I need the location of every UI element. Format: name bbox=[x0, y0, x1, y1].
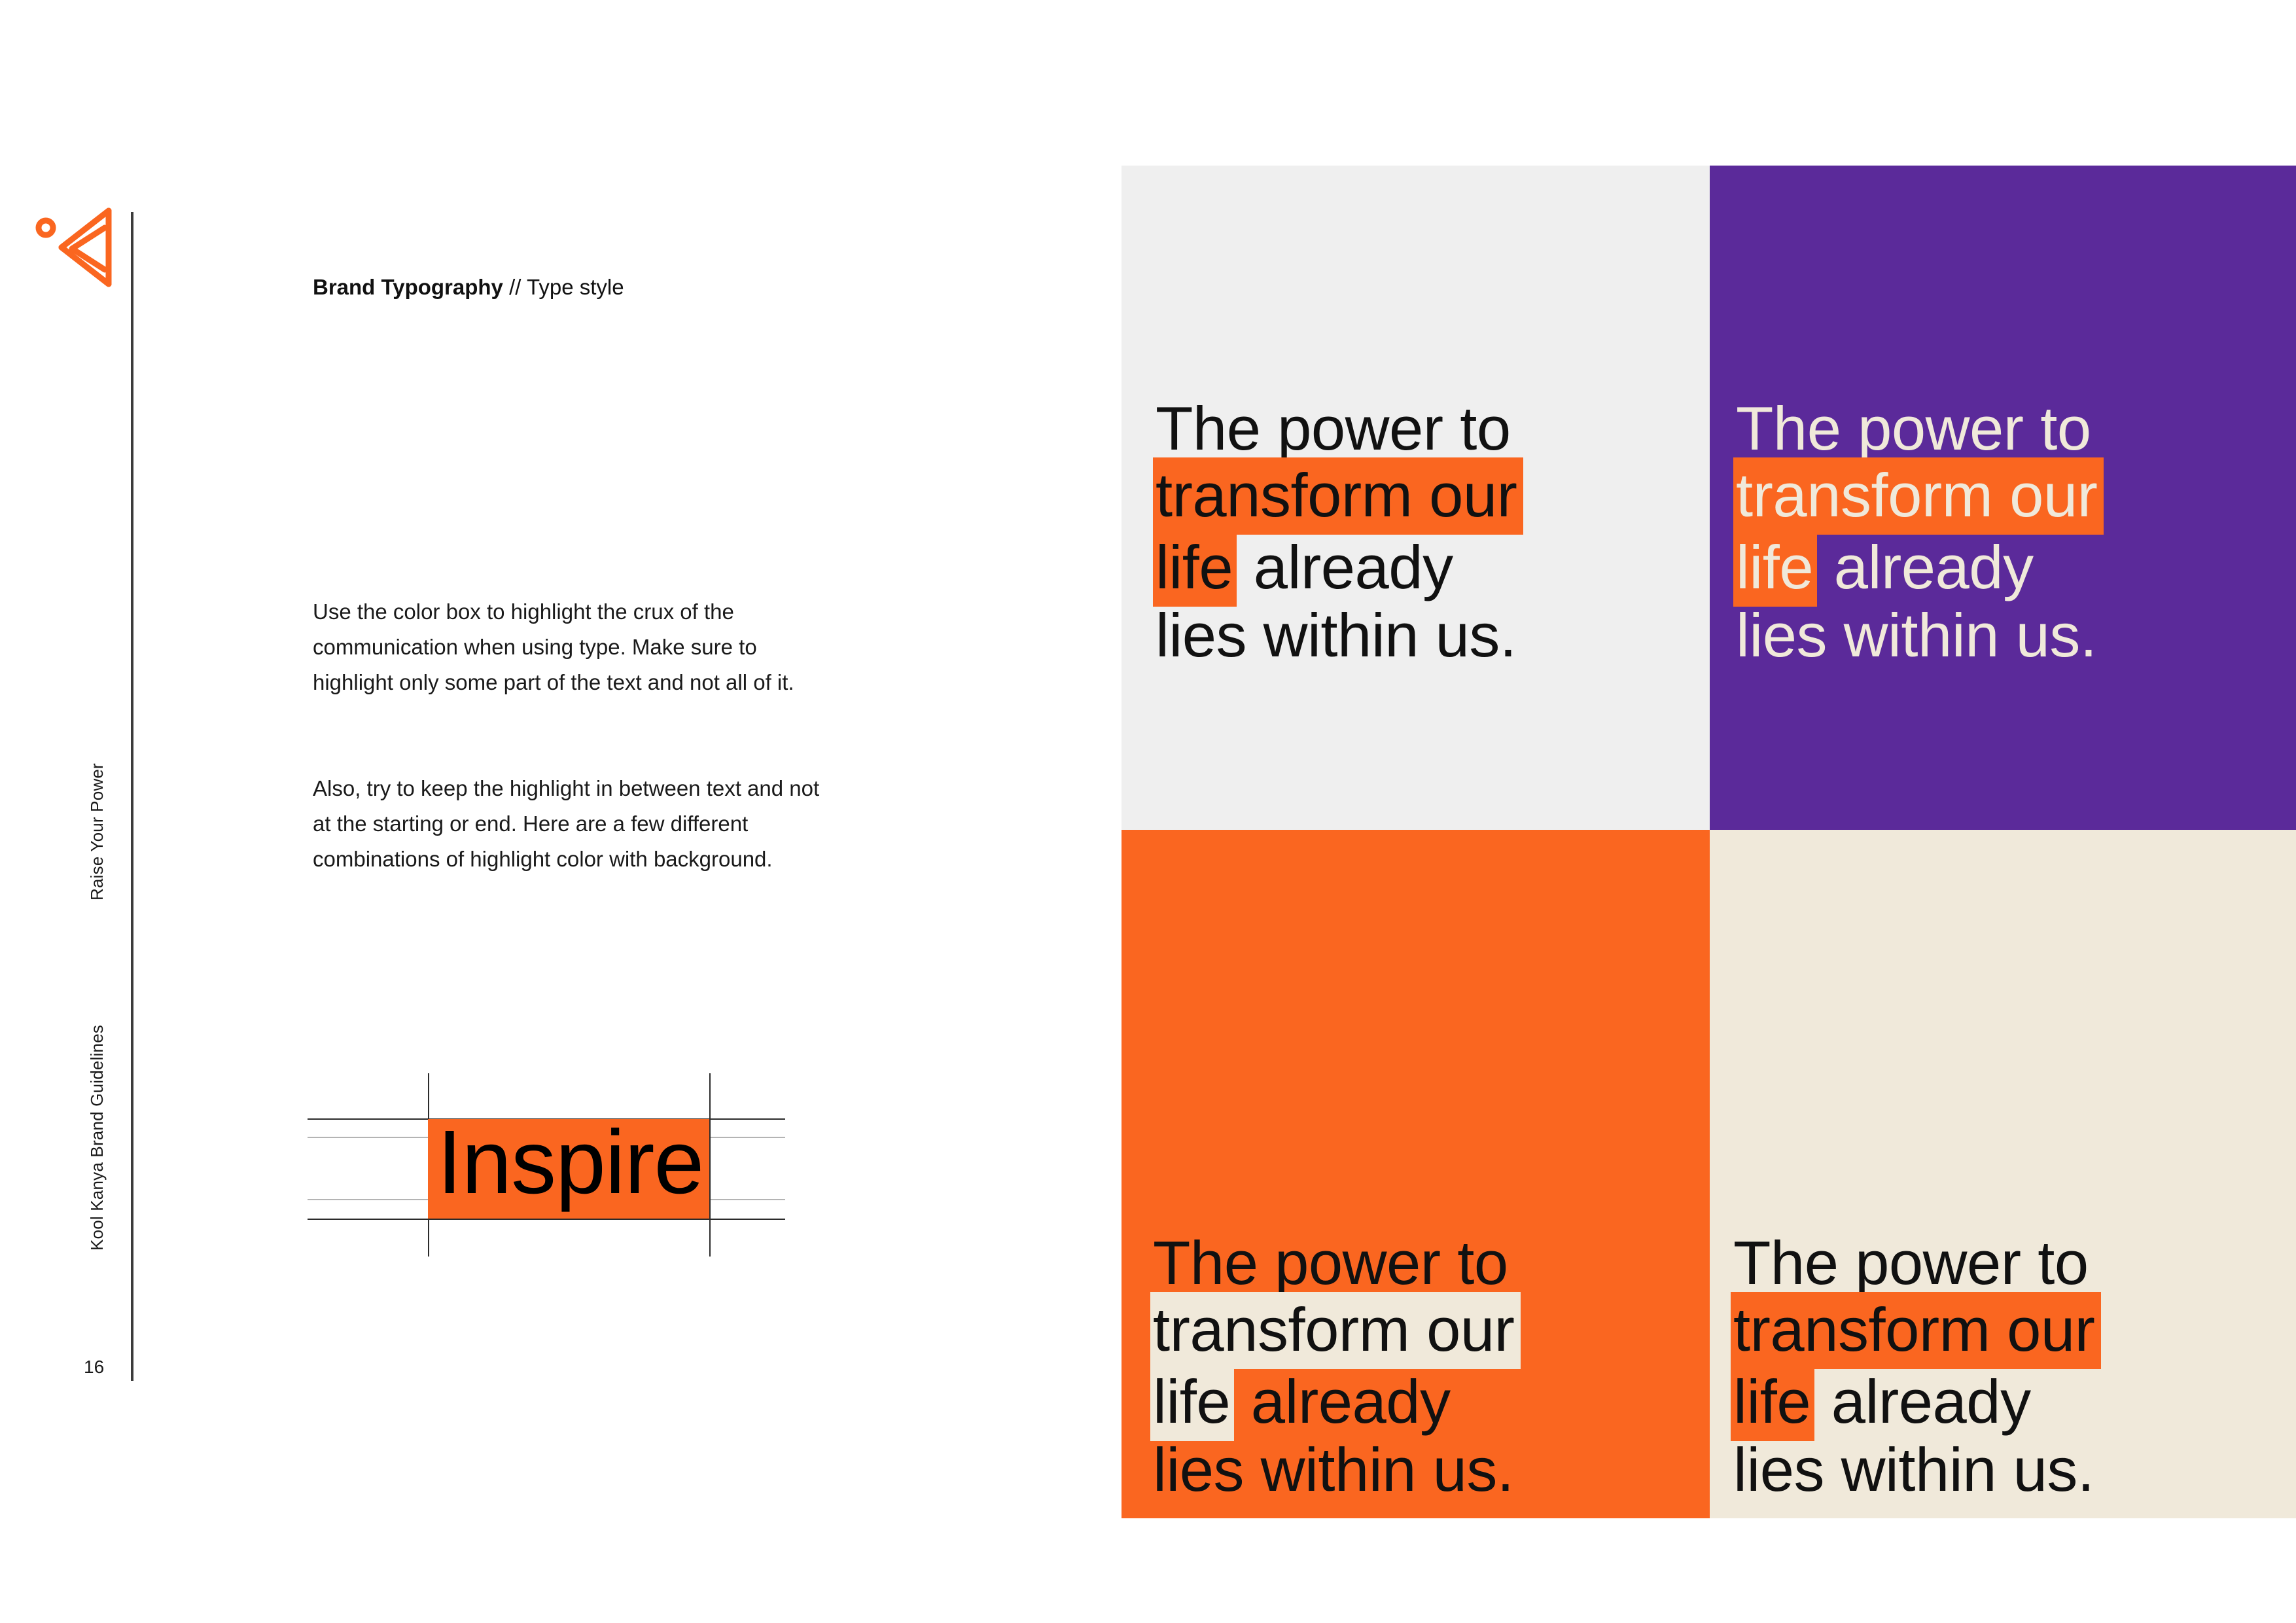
section-header-light: Type style bbox=[527, 275, 624, 299]
line-highlight: life bbox=[1153, 529, 1237, 607]
quadrant-headline: The power to transform our life already … bbox=[1733, 1229, 2101, 1504]
headline-line-4: lies within us. bbox=[1733, 1436, 2101, 1504]
specimen-word: Inspire bbox=[437, 1113, 703, 1212]
line-plain: lies within us. bbox=[1156, 601, 1517, 669]
line-plain: The power to bbox=[1153, 1228, 1508, 1297]
headline-line-1: The power to bbox=[1733, 1229, 2101, 1297]
type-specimen-diagram: Inspire bbox=[308, 1073, 792, 1257]
line-plain: The power to bbox=[1736, 394, 2091, 463]
headline-line-1: The power to bbox=[1736, 395, 2104, 463]
line-highlight: life bbox=[1150, 1364, 1234, 1441]
line-plain: already bbox=[1234, 1367, 1450, 1436]
descender-guide bbox=[308, 1219, 785, 1220]
line-highlight: transform our bbox=[1153, 457, 1523, 535]
headline-line-2: transform our bbox=[1153, 1292, 1521, 1369]
quadrant-cream-orange: The power to transform our life already … bbox=[1710, 830, 2296, 1518]
line-plain: The power to bbox=[1156, 394, 1511, 463]
headline-line-2: transform our bbox=[1733, 1292, 2101, 1369]
line-plain: lies within us. bbox=[1736, 601, 2097, 669]
line-plain: lies within us. bbox=[1733, 1435, 2094, 1504]
line-plain: The power to bbox=[1733, 1228, 2089, 1297]
headline-line-2: transform our bbox=[1156, 457, 1523, 535]
page-number: 16 bbox=[84, 1357, 104, 1378]
section-header-strong: Brand Typography bbox=[313, 275, 503, 299]
line-highlight: life bbox=[1731, 1364, 1814, 1441]
body-paragraph-2: Also, try to keep the highlight in betwe… bbox=[313, 771, 830, 877]
kool-kanya-chevron-logo bbox=[31, 196, 123, 301]
line-highlight: life bbox=[1733, 529, 1817, 607]
right-sidebearing-guide bbox=[709, 1073, 711, 1257]
quadrant-headline: The power to transform our life already … bbox=[1736, 395, 2104, 669]
quadrant-orange-cream: The power to transform our life already … bbox=[1122, 830, 1710, 1518]
headline-line-4: lies within us. bbox=[1736, 601, 2104, 669]
rail-tagline: Raise Your Power bbox=[87, 763, 107, 901]
quadrant-headline: The power to transform our life already … bbox=[1153, 1229, 1521, 1504]
headline-line-4: lies within us. bbox=[1153, 1436, 1521, 1504]
quadrant-headline: The power to transform our life already … bbox=[1156, 395, 1523, 669]
typography-example-grid: The power to transform our life already … bbox=[1122, 166, 2296, 1518]
rail-document-title: Kool Kanya Brand Guidelines bbox=[87, 1025, 107, 1251]
line-plain: already bbox=[1814, 1367, 2030, 1436]
line-plain: already bbox=[1237, 533, 1453, 601]
margin-divider-rule bbox=[131, 212, 133, 1381]
section-header: Brand Typography // Type style bbox=[313, 275, 624, 300]
line-highlight: transform our bbox=[1731, 1292, 2101, 1369]
headline-line-3: life already bbox=[1736, 529, 2104, 607]
section-header-separator: // bbox=[503, 275, 527, 299]
headline-line-3: life already bbox=[1153, 1364, 1521, 1441]
headline-line-3: life already bbox=[1733, 1364, 2101, 1441]
line-plain: lies within us. bbox=[1153, 1435, 1514, 1504]
headline-line-1: The power to bbox=[1153, 1229, 1521, 1297]
quadrant-purple-orange: The power to transform our life already … bbox=[1710, 166, 2296, 830]
headline-line-2: transform our bbox=[1736, 457, 2104, 535]
headline-line-1: The power to bbox=[1156, 395, 1523, 463]
headline-line-3: life already bbox=[1156, 529, 1523, 607]
line-highlight: transform our bbox=[1150, 1292, 1521, 1369]
body-paragraph-1: Use the color box to highlight the crux … bbox=[313, 594, 830, 700]
line-highlight: transform our bbox=[1733, 457, 2104, 535]
quadrant-gray-orange: The power to transform our life already … bbox=[1122, 166, 1710, 830]
headline-line-4: lies within us. bbox=[1156, 601, 1523, 669]
line-plain: already bbox=[1817, 533, 2033, 601]
